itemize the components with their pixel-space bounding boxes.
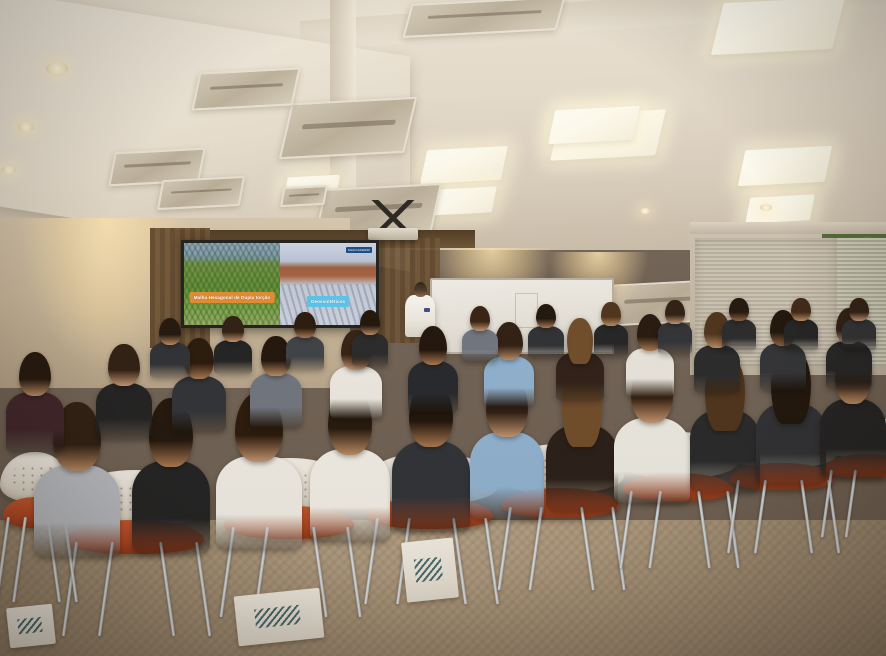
floor-bag <box>234 588 325 647</box>
slide-left-label: Malha Hexagonal de Dupla torção <box>190 292 275 303</box>
lecture-room-photo: Malha Hexagonal de Dupla torção MACCAFER… <box>0 0 886 656</box>
bag-print <box>17 617 42 635</box>
floor-bag <box>6 604 56 649</box>
floor-items-group <box>0 0 886 656</box>
slide-logo: MACCAFERRI <box>346 247 372 253</box>
slide-right-label: Geossintéticos <box>307 296 349 307</box>
bag-print <box>414 557 443 582</box>
bag-print <box>254 605 300 629</box>
floor-bag <box>401 537 459 602</box>
